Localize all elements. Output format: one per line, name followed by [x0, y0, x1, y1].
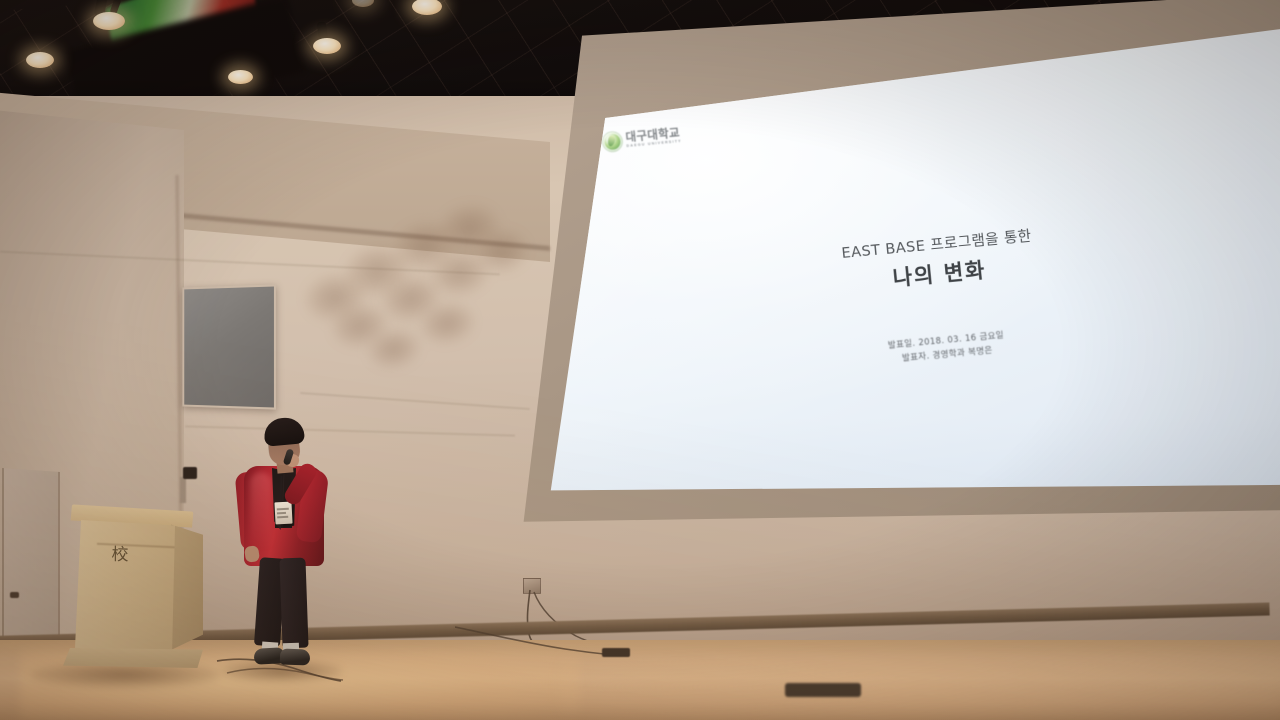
dark-floor-object [785, 683, 861, 697]
presenter-right-leg [279, 558, 308, 649]
wall-mount-bracket [180, 477, 186, 503]
daegu-university-emblem-icon [602, 131, 623, 152]
slide-presentation-date: 발표일. 2018. 03. 16 금요일 [617, 304, 1275, 376]
ceiling-spot-1 [93, 12, 125, 30]
ceiling-spot-3 [228, 70, 253, 84]
presentation-slide: 대구대학교 DAEGU UNIVERSITY EAST BASE 프로그램을 통… [592, 52, 1280, 480]
wooden-lectern[interactable]: 校 [55, 508, 205, 668]
lectern-emblem-icon: 校 [111, 545, 129, 566]
university-logo: 대구대학교 DAEGU UNIVERSITY [602, 126, 682, 152]
slide-metadata-block: 발표일. 2018. 03. 16 금요일 발표자. 경영학과 복명은 [617, 304, 1277, 392]
lectern-front-panel [75, 520, 175, 656]
floor-light-pool-right [560, 654, 1280, 720]
ceiling-spot-2 [26, 52, 54, 68]
presenter-right-sneaker [280, 648, 311, 665]
jacket-highlight [250, 472, 272, 550]
wall-mounted-fixture [183, 467, 197, 479]
projection-screen: 대구대학교 DAEGU UNIVERSITY EAST BASE 프로그램을 통… [498, 0, 1280, 552]
door-frame [2, 468, 60, 662]
name-badge [274, 502, 292, 525]
lectern-side-panel [171, 522, 203, 650]
slide-title-block: EAST BASE 프로그램을 통한 나의 변화 [607, 203, 1270, 318]
ceiling-spot-4 [313, 38, 341, 54]
floor-equipment-block [602, 648, 630, 657]
student-presenter [228, 418, 338, 673]
presenter-hair [263, 416, 305, 446]
floor-cable-run [455, 625, 595, 655]
lectern-base [63, 648, 203, 668]
door-handle [10, 592, 19, 598]
logo-text-block: 대구대학교 DAEGU UNIVERSITY [625, 127, 682, 149]
lecture-hall-photo: 校 [0, 0, 1280, 720]
wall-acoustic-panel [182, 284, 276, 409]
